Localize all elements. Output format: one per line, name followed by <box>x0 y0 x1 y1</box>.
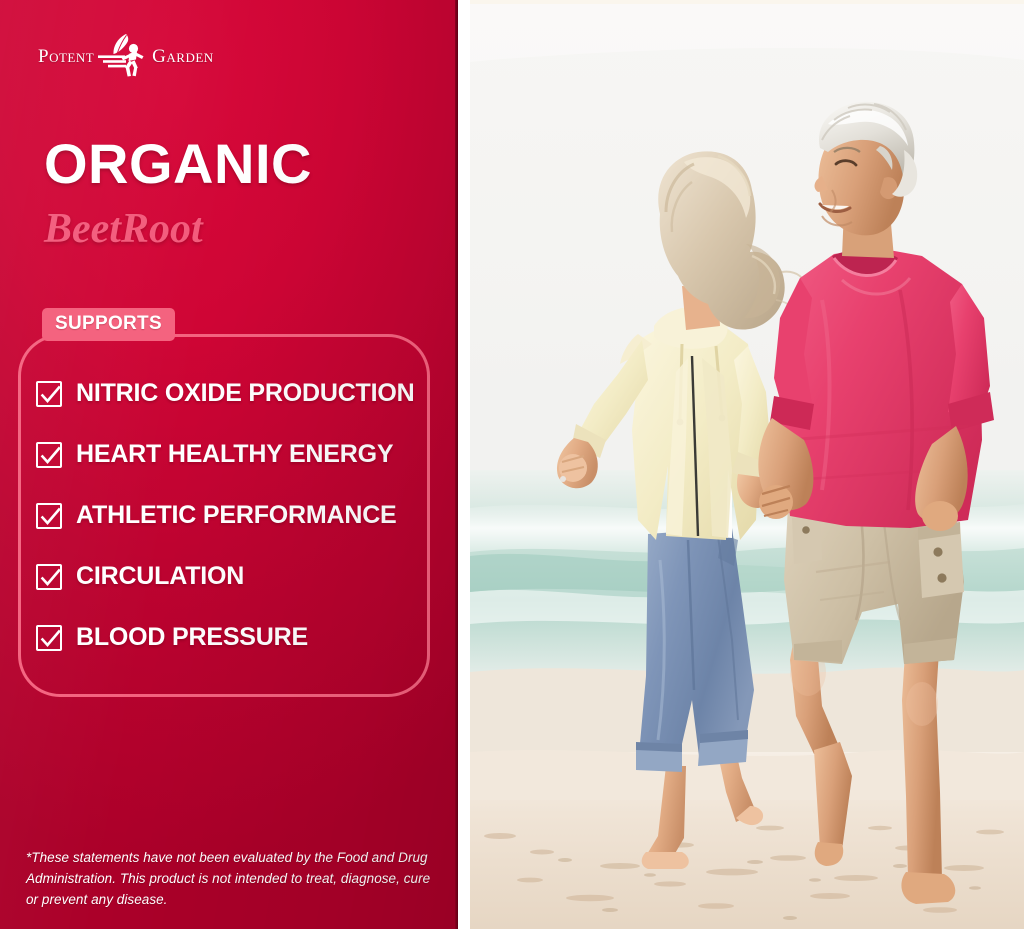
running-figure-leaf-icon <box>96 31 152 81</box>
checked-box-icon <box>36 442 62 468</box>
lifestyle-photo <box>470 0 1024 929</box>
list-item-label: HEART HEALTHY ENERGY <box>76 442 393 467</box>
product-infographic: Potent <box>0 0 1024 929</box>
supports-badge: SUPPORTS <box>42 308 175 341</box>
panel-divider <box>455 0 458 929</box>
list-item: NITRIC OXIDE PRODUCTION <box>36 378 436 409</box>
list-item-label: ATHLETIC PERFORMANCE <box>76 503 397 528</box>
list-item: ATHLETIC PERFORMANCE <box>36 500 436 531</box>
list-item-label: CIRCULATION <box>76 564 244 589</box>
list-item-label: BLOOD PRESSURE <box>76 625 308 650</box>
supports-list: NITRIC OXIDE PRODUCTION HEART HEALTHY EN… <box>36 378 436 653</box>
brand-logo[interactable]: Potent <box>38 30 238 82</box>
brand-word-potent: Potent <box>38 47 94 66</box>
brand-word-garden: Garden <box>152 47 214 66</box>
list-item: CIRCULATION <box>36 561 436 592</box>
page-subtitle-beetroot: BeetRoot <box>44 206 203 252</box>
checked-box-icon <box>36 625 62 651</box>
list-item: HEART HEALTHY ENERGY <box>36 439 436 470</box>
list-item: BLOOD PRESSURE <box>36 622 436 653</box>
fda-disclaimer: *These statements have not been evaluate… <box>26 848 436 911</box>
page-title-organic: ORGANIC <box>44 136 312 192</box>
checked-box-icon <box>36 503 62 529</box>
checked-box-icon <box>36 564 62 590</box>
checked-box-icon <box>36 381 62 407</box>
left-info-panel: Potent <box>0 0 457 929</box>
list-item-label: NITRIC OXIDE PRODUCTION <box>76 381 414 406</box>
